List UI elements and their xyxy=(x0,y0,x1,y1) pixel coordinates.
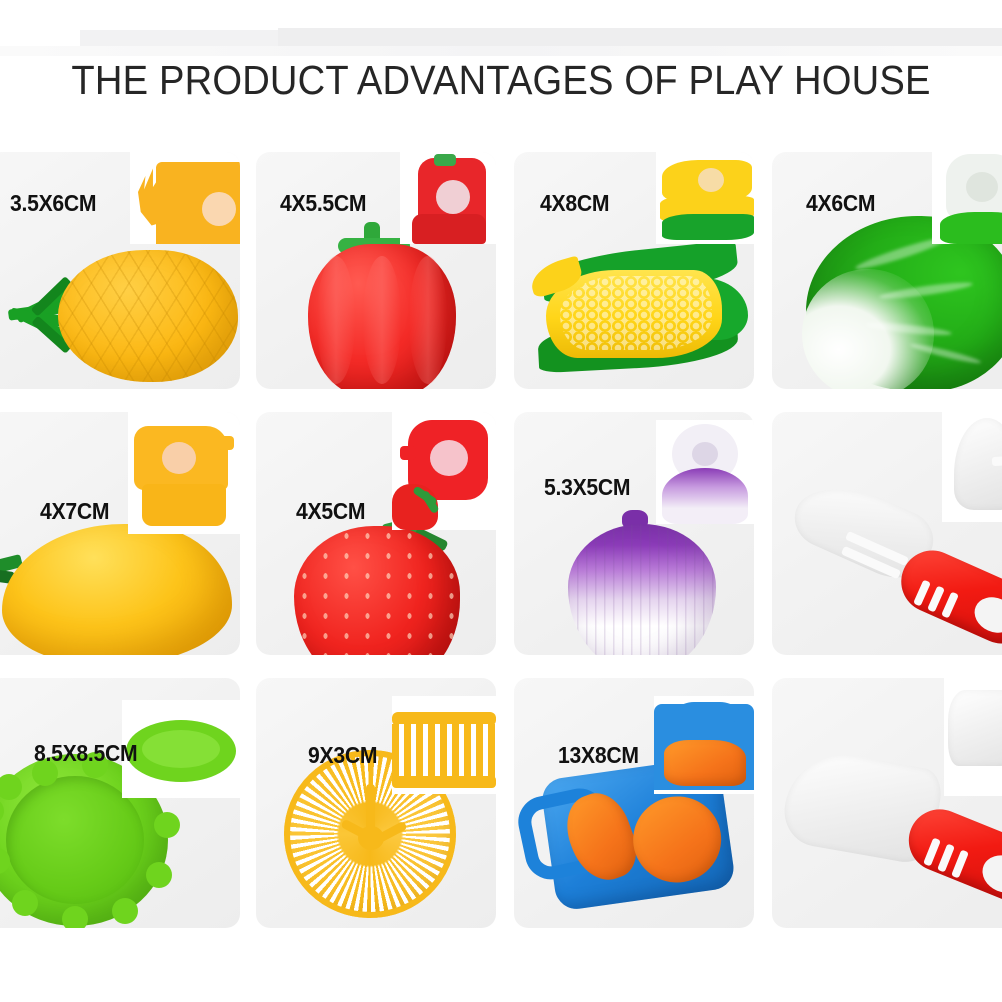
product-card-colander[interactable]: 9X3CM xyxy=(256,678,496,928)
product-card-peeler[interactable] xyxy=(772,412,1002,655)
product-card-cutting-board[interactable]: 13X8CM xyxy=(514,678,754,928)
product-card-plate[interactable]: 8.5X8.5CM xyxy=(0,678,240,928)
size-label: 4X5CM xyxy=(296,498,365,525)
inset-thumbnail xyxy=(392,412,496,530)
inset-thumbnail xyxy=(400,152,496,244)
top-banner-artifact-1 xyxy=(80,30,1002,46)
product-card-bell-pepper[interactable]: 4X5.5CM xyxy=(256,152,496,389)
product-card-pineapple[interactable]: 3.5X6CM xyxy=(0,152,240,389)
top-banner-artifact-2 xyxy=(278,28,1002,48)
size-label: 4X6CM xyxy=(806,190,875,217)
product-advantages-page: THE PRODUCT ADVANTAGES OF PLAY HOUSE 3.5… xyxy=(0,0,1002,1002)
size-label: 5.3X5CM xyxy=(544,474,630,501)
size-label: 3.5X6CM xyxy=(10,190,96,217)
size-label: 13X8CM xyxy=(558,742,639,769)
product-card-strawberry[interactable]: 4X5CM xyxy=(256,412,496,655)
size-label: 4X7CM xyxy=(40,498,109,525)
inset-thumbnail xyxy=(128,412,240,534)
inset-thumbnail xyxy=(654,696,754,794)
size-label: 8.5X8.5CM xyxy=(34,740,137,767)
inset-thumbnail xyxy=(942,412,1002,522)
size-label: 9X3CM xyxy=(308,742,377,769)
inset-thumbnail xyxy=(656,420,754,524)
inset-thumbnail xyxy=(130,152,240,244)
page-title: THE PRODUCT ADVANTAGES OF PLAY HOUSE xyxy=(35,56,967,104)
product-grid: 3.5X6CM xyxy=(0,152,1002,962)
size-label: 4X8CM xyxy=(540,190,609,217)
top-banner-artifact-3 xyxy=(0,46,1002,56)
product-card-knife[interactable] xyxy=(772,678,1002,928)
inset-thumbnail xyxy=(932,152,1002,244)
size-label: 4X5.5CM xyxy=(280,190,366,217)
product-card-onion[interactable]: 5.3X5CM xyxy=(514,412,754,655)
product-card-cabbage[interactable]: 4X6CM xyxy=(772,152,1002,389)
inset-thumbnail xyxy=(656,152,754,244)
inset-thumbnail xyxy=(944,678,1002,796)
inset-thumbnail xyxy=(122,700,240,798)
product-card-corn[interactable]: 4X8CM xyxy=(514,152,754,389)
inset-thumbnail xyxy=(392,696,496,794)
product-card-mango[interactable]: 4X7CM xyxy=(0,412,240,655)
